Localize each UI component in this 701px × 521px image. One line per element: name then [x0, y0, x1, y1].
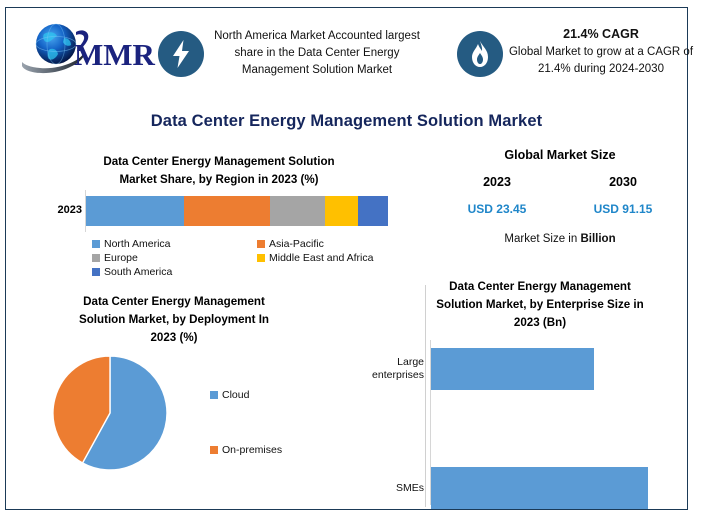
- enterprise-size-chart: Data Center Energy Management Solution M…: [336, 278, 688, 508]
- market-size-value-2030: USD 91.15: [594, 202, 653, 216]
- region-segment-north-america: [86, 196, 184, 226]
- enterprise-category-label: SMEs: [336, 482, 430, 495]
- enterprise-bar: [431, 348, 594, 390]
- region-segment-south-america: [358, 196, 388, 226]
- region-segment-middle-east-and-africa: [325, 196, 358, 226]
- legend-swatch-icon: [92, 268, 100, 276]
- legend-label: South America: [104, 266, 172, 278]
- global-market-size-panel: Global Market Size 2023 2030 USD 23.45 U…: [434, 148, 686, 245]
- pie-legend: CloudOn-premises: [210, 389, 282, 499]
- legend-row: North AmericaAsia-Pacific: [92, 238, 422, 250]
- region-chart-title: Data Center Energy Management Solution M…: [14, 148, 424, 189]
- enterprise-bar: [431, 467, 648, 509]
- legend-label: Asia-Pacific: [269, 238, 324, 250]
- market-size-unit-value: Billion: [580, 233, 615, 245]
- enterprise-bar-row: SMEs: [336, 467, 688, 509]
- enterprise-chart-plot: LargeenterprisesSMEs: [336, 340, 688, 505]
- region-legend: North AmericaAsia-PacificEuropeMiddle Ea…: [92, 238, 422, 280]
- pie-chart-title-line-1: Data Center Energy Management: [46, 293, 302, 311]
- lightning-bolt-icon: [158, 31, 204, 77]
- global-market-size-title: Global Market Size: [434, 148, 686, 162]
- cagr-description: Global Market to grow at a CAGR of 21.4%…: [509, 46, 693, 75]
- legend-row: South America: [92, 266, 422, 278]
- global-market-size-values: USD 23.45 USD 91.15: [434, 202, 686, 216]
- pie-legend-label: On-premises: [222, 444, 282, 456]
- pie-chart-title-line-2: Solution Market, by Deployment In: [46, 311, 302, 329]
- enterprise-category-label-line: enterprises: [336, 369, 424, 382]
- mmr-logo: MMR: [20, 18, 160, 80]
- flame-icon: [457, 31, 503, 77]
- market-size-year-2023: 2023: [483, 175, 511, 189]
- region-stacked-bar: [86, 196, 388, 226]
- pie-slices: [52, 355, 168, 471]
- enterprise-category-label-line: SMEs: [336, 482, 424, 495]
- legend-swatch-icon: [257, 254, 265, 262]
- legend-label: Middle East and Africa: [269, 252, 373, 264]
- enterprise-category-label-line: Large: [336, 356, 424, 369]
- region-chart-title-line-2: Market Share, by Region in 2023 (%): [34, 171, 404, 189]
- region-segment-asia-pacific: [184, 196, 270, 226]
- legend-swatch-icon: [92, 240, 100, 248]
- region-share-chart: Data Center Energy Management Solution M…: [14, 148, 424, 278]
- header: MMR North America Market Accounted large…: [6, 8, 687, 106]
- legend-label: North America: [104, 238, 171, 250]
- pie-legend-label: Cloud: [222, 389, 249, 401]
- region-chart-plot: 2023: [14, 196, 424, 230]
- legend-item-north-america: North America: [92, 238, 257, 250]
- legend-swatch-icon: [210, 446, 218, 454]
- enterprise-bar-row: Largeenterprises: [336, 348, 688, 390]
- legend-swatch-icon: [257, 240, 265, 248]
- legend-label: Europe: [104, 252, 138, 264]
- page-title: Data Center Energy Management Solution M…: [6, 112, 687, 131]
- globe-swoosh-icon: MMR: [20, 18, 160, 80]
- legend-swatch-icon: [210, 391, 218, 399]
- header-stat-north-america: North America Market Accounted largest s…: [211, 28, 423, 79]
- region-axis-label: 2023: [32, 204, 82, 216]
- pie-legend-item-cloud: Cloud: [210, 389, 282, 401]
- enterprise-category-label: Largeenterprises: [336, 356, 430, 382]
- legend-row: EuropeMiddle East and Africa: [92, 252, 422, 264]
- global-market-size-years: 2023 2030: [434, 175, 686, 189]
- legend-swatch-icon: [92, 254, 100, 262]
- market-size-value-2023: USD 23.45: [468, 202, 527, 216]
- enterprise-chart-title: Data Center Energy Management Solution M…: [336, 278, 688, 332]
- legend-item-europe: Europe: [92, 252, 257, 264]
- market-size-year-2030: 2030: [609, 175, 637, 189]
- region-chart-title-line-1: Data Center Energy Management Solution: [34, 153, 404, 171]
- enterprise-chart-title-line-1: Data Center Energy Management: [406, 278, 674, 296]
- legend-item-south-america: South America: [92, 266, 260, 278]
- pie-graphic: [52, 355, 168, 471]
- deployment-pie-chart: Data Center Energy Management Solution M…: [14, 293, 334, 508]
- infographic-container: MMR North America Market Accounted large…: [5, 7, 688, 510]
- pie-chart-title: Data Center Energy Management Solution M…: [14, 293, 334, 347]
- legend-item-asia-pacific: Asia-Pacific: [257, 238, 422, 250]
- cagr-headline: 21.4% CAGR: [506, 26, 696, 43]
- market-size-unit-note: Market Size in Billion: [434, 233, 686, 245]
- region-segment-europe: [270, 196, 324, 226]
- enterprise-chart-title-line-2: Solution Market, by Enterprise Size in: [406, 296, 674, 314]
- pie-chart-title-line-3: 2023 (%): [46, 329, 302, 347]
- legend-item-middle-east-and-africa: Middle East and Africa: [257, 252, 422, 264]
- enterprise-chart-title-line-3: 2023 (Bn): [406, 314, 674, 332]
- market-size-unit-prefix: Market Size in: [504, 233, 580, 245]
- header-stat-cagr: 21.4% CAGR Global Market to grow at a CA…: [506, 26, 696, 78]
- pie-legend-item-on-premises: On-premises: [210, 444, 282, 456]
